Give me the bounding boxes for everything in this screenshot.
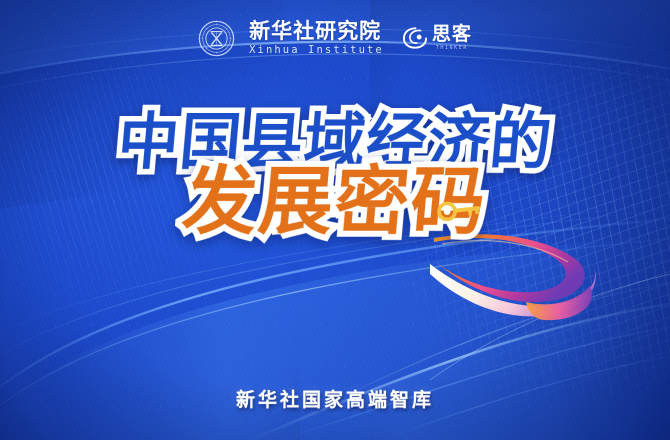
partner-name-cn: 思客 [432,25,472,44]
institute-name-block: 新华社研究院 Xinhua Institute [249,21,384,56]
title-block: 中国县域经济的 发展密码 [0,112,670,239]
xinhua-circular-emblem-icon [198,20,235,57]
institute-name-en: Xinhua Institute [249,45,384,56]
footer-text: 新华社国家高端智库 [236,389,434,411]
golden-key-icon [437,199,485,221]
partner-logo: 思客 THINKER [402,25,472,51]
logo-bar: 新华社研究院 Xinhua Institute 思客 THINKER [0,14,670,62]
title-line-2-wrapper: 发展密码 [183,173,487,239]
partner-name-en: THINKER [432,46,472,51]
partner-name-block: 思客 THINKER [432,25,472,51]
footer: 新华社国家高端智库 [0,385,670,412]
poster-canvas: 新华社研究院 Xinhua Institute 思客 THINKER 中国县域经… [0,0,670,440]
sike-swirl-icon [402,26,428,50]
institute-name-cn: 新华社研究院 [249,21,384,42]
